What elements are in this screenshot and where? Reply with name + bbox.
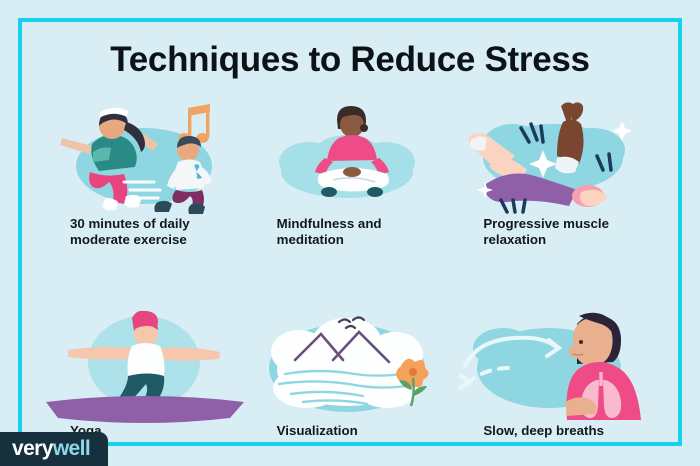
breathing-illustration [453,310,660,415]
caption-line-1: Mindfulness and [277,216,454,232]
stretching-limbs-icon [453,100,663,212]
caption-line-2: moderate exercise [70,232,247,248]
technique-card-exercise: 30 minutes of daily moderate exercise [40,100,247,248]
raised-arm [555,102,584,173]
caption-line-1: 30 minutes of daily [70,216,247,232]
technique-card-meditation: Mindfulness and meditation [247,100,454,248]
running-people-icon [40,100,250,212]
yoga-illustration [40,310,247,415]
techniques-grid: 30 minutes of daily moderate exercise [40,100,660,439]
technique-caption-muscle-relaxation: Progressive muscle relaxation [453,210,660,248]
infographic-poster: Techniques to Reduce Stress [0,0,700,466]
verywell-logo[interactable]: verywell [0,432,108,466]
meditation-illustration [247,100,454,210]
technique-card-breathing: Slow, deep breaths [453,310,660,439]
techniques-row-2: Yoga [40,310,660,439]
caption-line-2: relaxation [483,232,660,248]
meditating-person-icon [247,100,457,212]
warrior-pose-icon [40,310,250,420]
techniques-row-1: 30 minutes of daily moderate exercise [40,100,660,248]
technique-card-muscle-relaxation: Progressive muscle relaxation [453,100,660,248]
technique-card-yoga: Yoga [40,310,247,439]
technique-card-visualization: Visualization [247,310,454,439]
landscape-daydream-icon [247,310,457,420]
caption-line-1: Slow, deep breaths [483,423,660,439]
caption-line-1: Visualization [277,423,454,439]
caption-line-1: Progressive muscle [483,216,660,232]
muscle-relaxation-illustration [453,100,660,210]
visualization-illustration [247,310,454,415]
yoga-mat [46,396,244,423]
page-title: Techniques to Reduce Stress [0,40,700,80]
technique-caption-meditation: Mindfulness and meditation [247,210,454,248]
deep-breathing-icon [453,310,663,420]
logo-text-very: very [12,437,53,461]
exercise-illustration [40,100,247,210]
caption-line-2: meditation [277,232,454,248]
logo-text-well: well [53,437,90,461]
technique-caption-exercise: 30 minutes of daily moderate exercise [40,210,247,248]
